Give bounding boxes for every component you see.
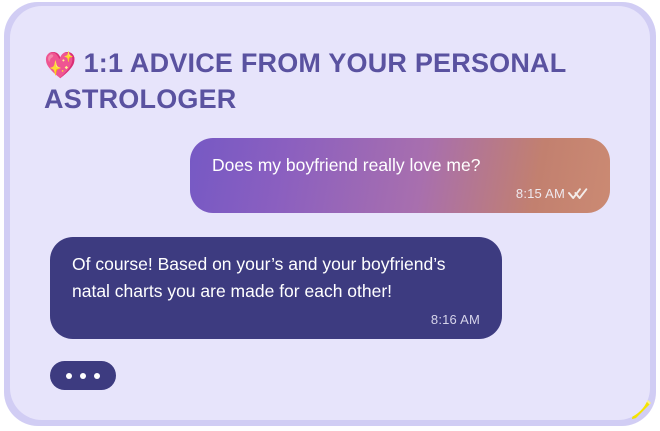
message-bubble-incoming[interactable]: Of course! Based on your’s and your boyf… [50,237,502,339]
message-timestamp: 8:15 AM [516,186,565,201]
page-title: 💖1:1 ADVICE FROM YOUR PERSONAL ASTROLOGE… [44,46,604,117]
message-timestamp: 8:16 AM [431,312,480,327]
message-text: Of course! Based on your’s and your boyf… [72,251,480,305]
typing-indicator [50,361,116,390]
message-meta: 8:16 AM [72,309,480,329]
typing-indicator-row [10,361,650,390]
message-row-incoming: Of course! Based on your’s and your boyf… [10,213,650,339]
double-check-icon [568,186,588,200]
sparkling-heart-emoji: 💖 [44,50,77,80]
screenshot-stage: 💖1:1 ADVICE FROM YOUR PERSONAL ASTROLOGE… [0,0,660,428]
message-row-outgoing: Does my boyfriend really love me? 8:15 A… [10,138,650,213]
message-meta: 8:15 AM [212,183,588,203]
page-title-text: 1:1 ADVICE FROM YOUR PERSONAL ASTROLOGER [44,48,566,114]
typing-dot [80,373,86,379]
promo-card: 💖1:1 ADVICE FROM YOUR PERSONAL ASTROLOGE… [10,6,650,420]
typing-dot [94,373,100,379]
typing-dot [66,373,72,379]
card-header: 💖1:1 ADVICE FROM YOUR PERSONAL ASTROLOGE… [44,46,604,117]
message-bubble-outgoing[interactable]: Does my boyfriend really love me? 8:15 A… [190,138,610,213]
chat-thread: Does my boyfriend really love me? 8:15 A… [10,138,650,390]
message-text: Does my boyfriend really love me? [212,152,588,179]
